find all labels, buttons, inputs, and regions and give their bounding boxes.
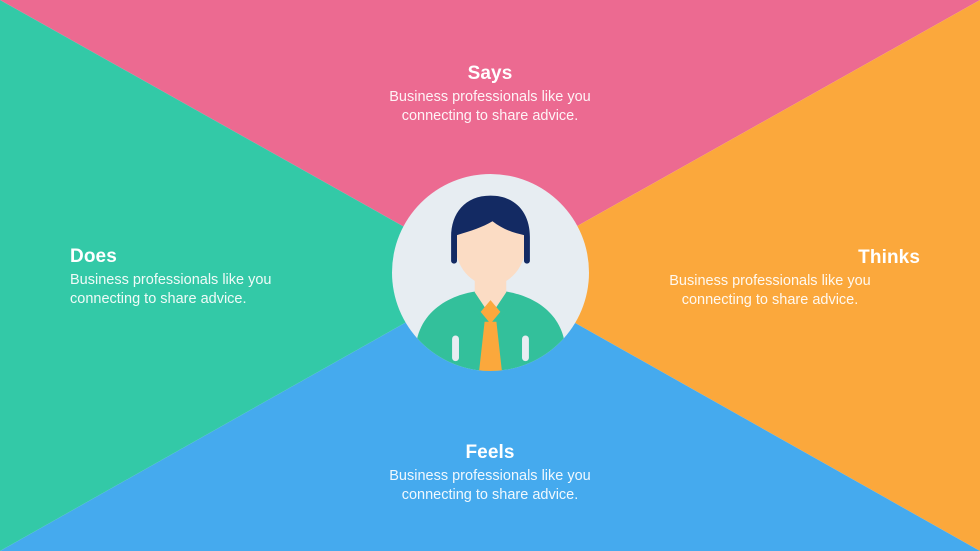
quadrant-says-title: Says [0,62,980,86]
quadrant-feels: Feels Business professionals like you co… [0,441,980,506]
quadrant-thinks-title: Thinks [620,246,920,270]
quadrant-thinks: Thinks Business professionals like you c… [620,246,920,311]
user-persona-avatar [392,174,589,371]
empathy-map-slide: Says Business professionals like you con… [0,0,980,551]
quadrant-feels-body: Business professionals like you connecti… [0,467,980,506]
quadrant-does-body: Business professionals like you connecti… [70,271,370,310]
quadrant-feels-title: Feels [0,441,980,465]
quadrant-says-body: Business professionals like you connecti… [0,88,980,127]
quadrant-does-title: Does [70,245,370,269]
avatar-collar-strip-right [522,336,529,362]
avatar-collar-strip-left [452,336,459,362]
quadrant-says: Says Business professionals like you con… [0,62,980,127]
quadrant-thinks-body: Business professionals like you connecti… [620,272,920,311]
quadrant-does: Does Business professionals like you con… [70,245,370,310]
